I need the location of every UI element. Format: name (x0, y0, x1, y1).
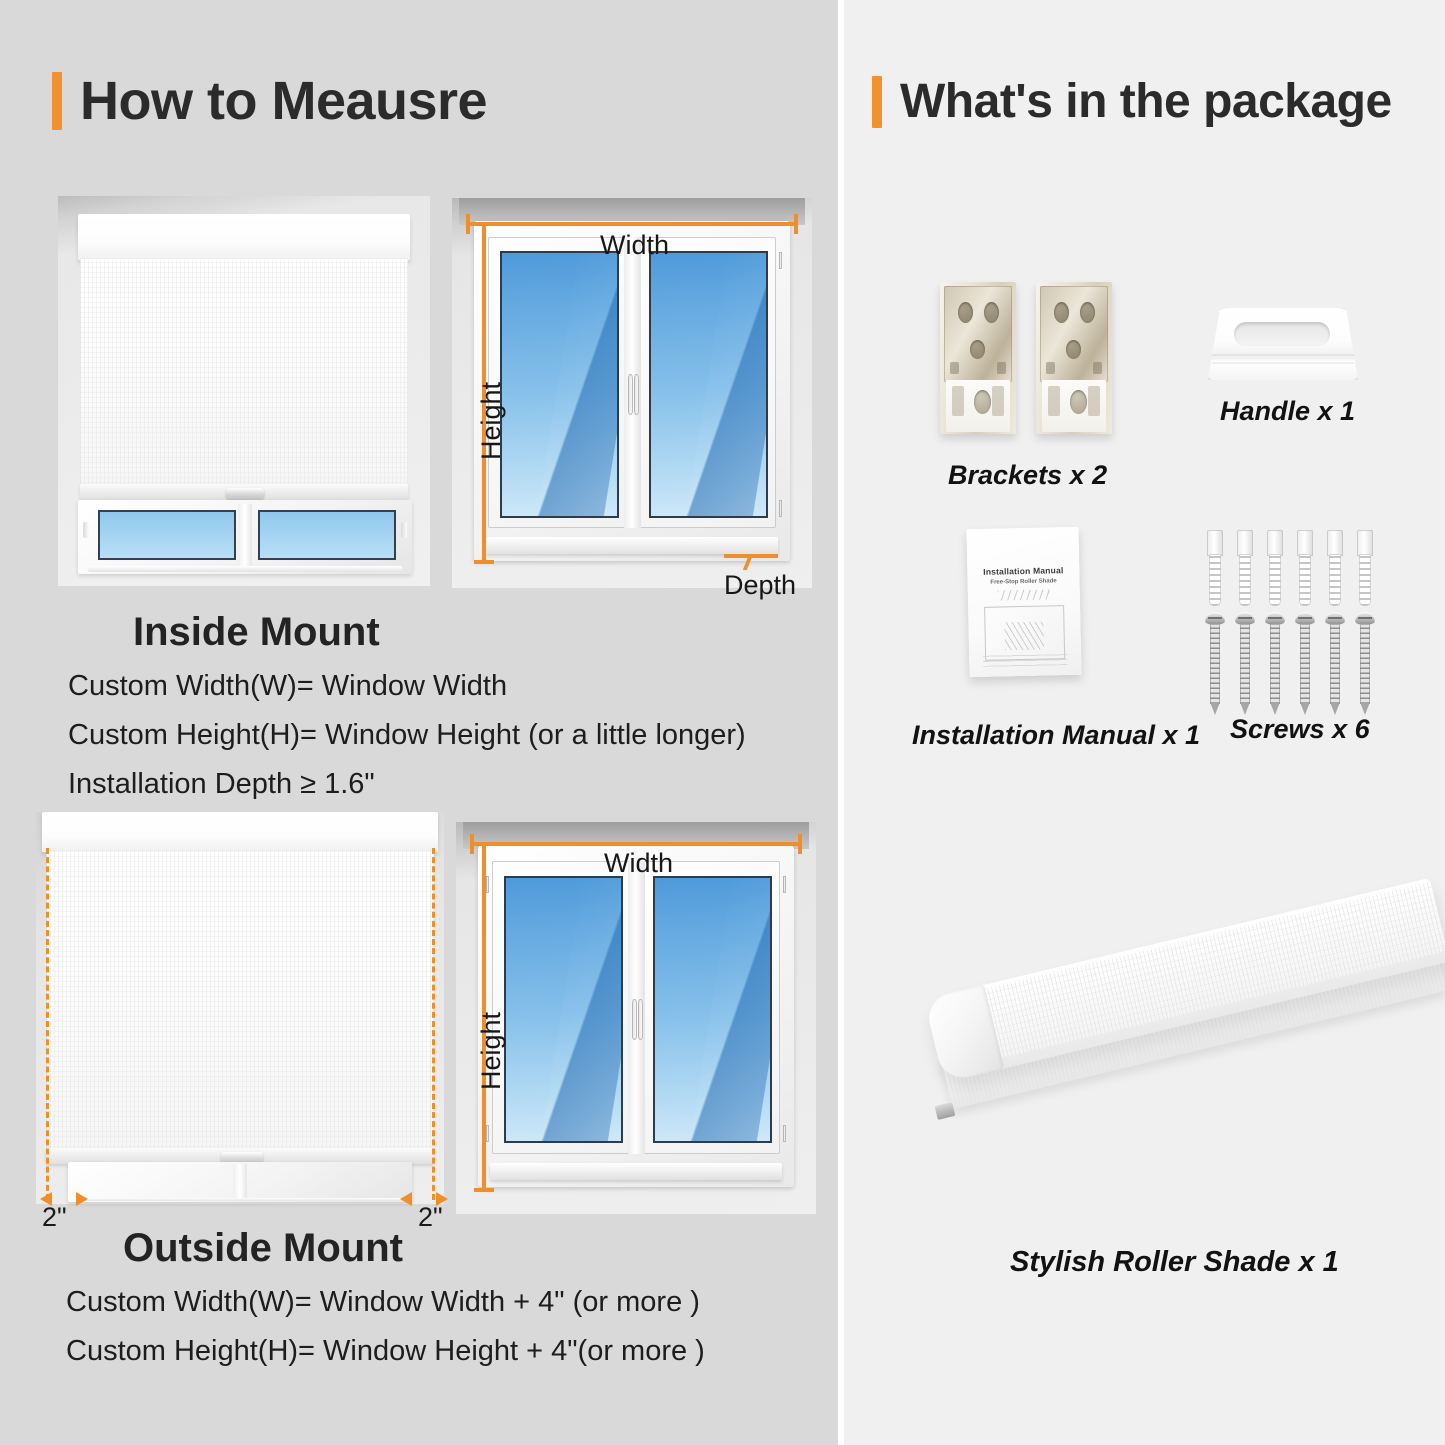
window-hinge-bottom-right (783, 1125, 786, 1142)
outside-mount-line-2: Custom Height(H)= Window Height + 4"(or … (66, 1333, 705, 1370)
window-sash-right (641, 861, 780, 1154)
overhang-guide-right (432, 848, 435, 1200)
width-dimension-cap-right (798, 834, 802, 854)
depth-label: Depth (724, 570, 796, 601)
shade-fabric (80, 258, 408, 488)
shade-valance (42, 812, 438, 852)
panel-divider (838, 0, 844, 1445)
overhang-label-right: 2" (418, 1202, 443, 1233)
shade-fabric (46, 850, 434, 1152)
lower-mullion (238, 504, 251, 566)
width-dimension-cap-left (466, 214, 470, 234)
width-dimension-cap-right (794, 214, 798, 234)
screw-icon (1235, 612, 1255, 716)
outside-mount-shade-illustration (36, 812, 444, 1204)
handle-label: Handle x 1 (1220, 396, 1355, 427)
manual-cover-subtitle: Free-Stop Roller Shade (976, 578, 1072, 586)
window-hinge-top-right (783, 876, 786, 893)
window-hinge-bottom-right (779, 500, 782, 517)
accent-bar-icon (52, 72, 62, 130)
lower-sill (88, 566, 402, 572)
window-sill (490, 1163, 781, 1180)
screw-icon (1355, 612, 1375, 716)
window-glass-left (500, 251, 618, 518)
lower-hinge-left (83, 522, 89, 538)
manual-cover-scribble (998, 589, 1050, 600)
wall-anchor-icon (1236, 530, 1254, 606)
lower-window (78, 500, 412, 574)
handle-icon (1208, 308, 1358, 380)
page-title-left: How to Meausre (80, 74, 487, 128)
window-frame (474, 221, 791, 560)
lower-glass-right (258, 510, 396, 560)
inside-mount-window-diagram: Width Height Depth (452, 198, 812, 588)
window-sash-left (492, 861, 631, 1154)
wall-anchor-icon (1326, 530, 1344, 606)
outside-mount-text: Custom Width(W)= Window Width + 4" (or m… (66, 1284, 705, 1382)
lower-sill (78, 1198, 401, 1201)
overhang-guide-left (46, 848, 49, 1200)
how-to-measure-heading: How to Meausre (52, 72, 487, 130)
infographic-page: How to Meausre (0, 0, 1445, 1445)
lower-glass-left (98, 510, 236, 560)
window-sill (486, 537, 777, 554)
wall-anchor-icon (1266, 530, 1284, 606)
height-label: Height (476, 382, 507, 460)
shade-valance (78, 214, 410, 260)
window-glass-right (653, 876, 771, 1144)
window-frame (478, 846, 795, 1187)
manual-cover-footer (983, 653, 1067, 667)
window-sash-right (637, 237, 776, 529)
roller-shade-label: Stylish Roller Shade x 1 (1010, 1246, 1339, 1279)
inside-mount-line-2: Custom Height(H)= Window Height (or a li… (68, 717, 746, 754)
manual-icon: Installation Manual Free-Stop Roller Sha… (966, 527, 1081, 677)
window-glass-right (649, 251, 767, 518)
inside-mount-shade-illustration (58, 196, 430, 586)
width-dimension-line (472, 842, 802, 846)
outside-mount-title: Outside Mount (123, 1226, 403, 1271)
height-label: Height (476, 1012, 507, 1090)
roller-shade-end-pin (935, 1102, 956, 1120)
page-title-right: What's in the package (900, 78, 1392, 126)
screw-icon (1205, 612, 1225, 716)
lower-window (68, 1162, 412, 1202)
width-dimension-line (468, 222, 798, 226)
wall-anchor-icon (1206, 530, 1224, 606)
manual-cover-title: Installation Manual (975, 565, 1071, 577)
window-sash-left (488, 237, 627, 529)
handle-slot (1234, 322, 1330, 346)
inside-mount-text: Custom Width(W)= Window Width Custom Hei… (68, 668, 746, 815)
wall-anchor-icon (1296, 530, 1314, 606)
bracket-icon (1036, 282, 1112, 434)
window-hinge-top-left (486, 876, 489, 893)
inside-mount-line-1: Custom Width(W)= Window Width (68, 668, 746, 705)
window-handles (632, 999, 643, 1040)
shade-pull-tab (226, 488, 264, 499)
height-dimension-cap-bottom (474, 1188, 494, 1192)
outside-mount-line-1: Custom Width(W)= Window Width + 4" (or m… (66, 1284, 705, 1321)
outside-mount-window-diagram: Width Height (456, 822, 816, 1214)
manual-label: Installation Manual x 1 (912, 720, 1200, 751)
screw-icon (1265, 612, 1285, 716)
bracket-icon (940, 282, 1016, 434)
window-glass-left (504, 876, 622, 1144)
screw-icon (1325, 612, 1345, 716)
lower-hinge-right (401, 522, 407, 538)
roller-shade-icon (900, 880, 1440, 1220)
lower-mullion (233, 1164, 247, 1198)
inside-mount-title: Inside Mount (133, 610, 380, 655)
package-heading: What's in the package (872, 76, 1392, 128)
window-hinge-bottom-left (486, 1125, 489, 1142)
wall-anchor-icon (1356, 530, 1374, 606)
accent-bar-icon (872, 76, 882, 128)
window-hinge-top-right (779, 252, 782, 269)
window-handles (628, 374, 639, 415)
inside-mount-line-3: Installation Depth ≥ 1.6" (68, 766, 746, 803)
width-label: Width (604, 848, 673, 879)
screws-label: Screws x 6 (1230, 714, 1370, 745)
screw-icon (1295, 612, 1315, 716)
width-label: Width (600, 230, 669, 261)
brackets-label: Brackets x 2 (948, 460, 1107, 491)
overhang-label-left: 2" (42, 1202, 67, 1233)
height-dimension-cap-bottom (474, 560, 494, 564)
width-dimension-cap-left (470, 834, 474, 854)
